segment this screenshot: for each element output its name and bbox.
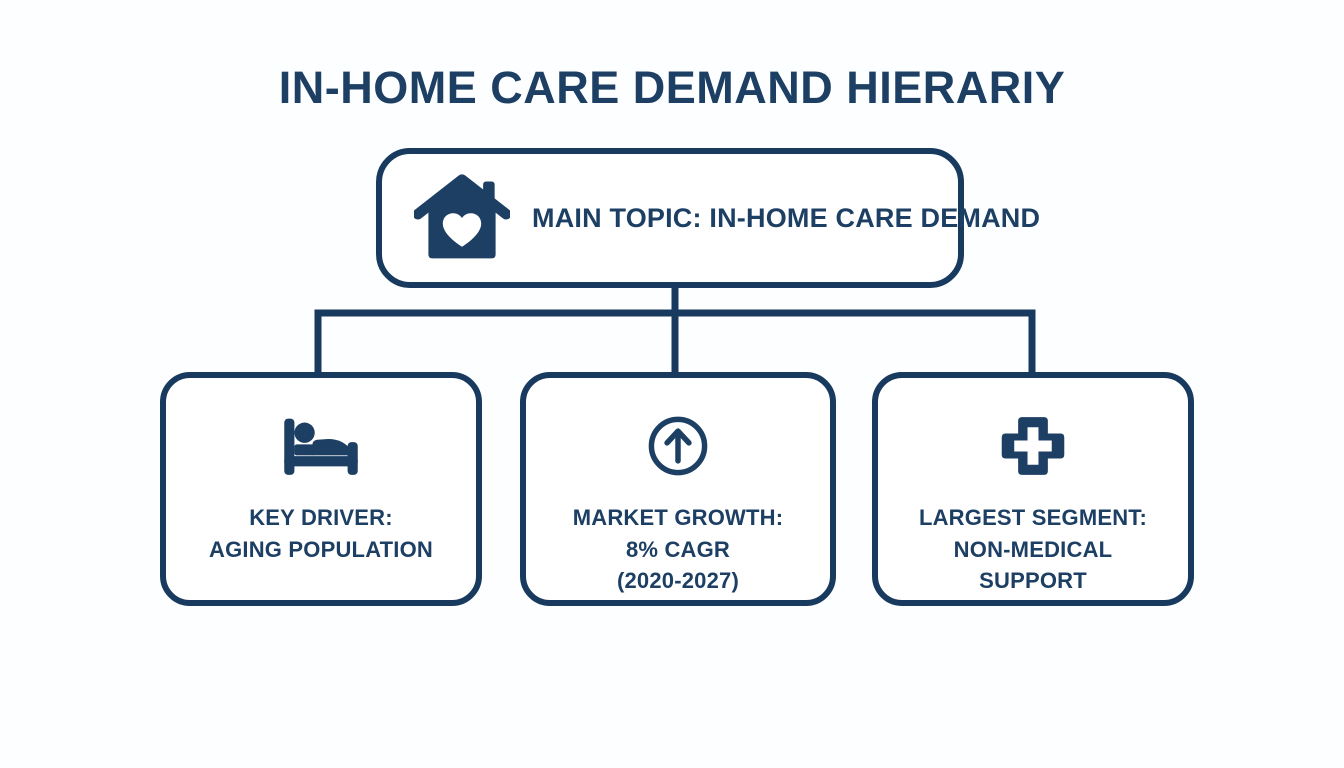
node-key-driver-label: KEY DRIVER: AGING POPULATION [209, 502, 433, 565]
node-main-topic-label: MAIN TOPIC: IN-HOME CARE DEMAND [532, 199, 1040, 237]
diagram-canvas: IN-HOME CARE DEMAND HIERARIY MAIN TOPIC: [0, 0, 1344, 768]
node-market-growth-label: MARKET GROWTH: 8% CAGR (2020-2027) [573, 502, 784, 597]
page-title: IN-HOME CARE DEMAND HIERARIY [0, 63, 1344, 113]
node-largest-segment-line-3: SUPPORT [919, 565, 1147, 597]
node-key-driver-line-1: KEY DRIVER: [209, 502, 433, 534]
node-key-driver[interactable]: KEY DRIVER: AGING POPULATION [160, 372, 482, 606]
node-market-growth-line-3: (2020-2027) [573, 565, 784, 597]
node-key-driver-line-2: AGING POPULATION [209, 534, 433, 566]
house-heart-icon [414, 170, 510, 266]
node-market-growth[interactable]: MARKET GROWTH: 8% CAGR (2020-2027) [520, 372, 836, 606]
node-largest-segment[interactable]: LARGEST SEGMENT: NON-MEDICAL SUPPORT [872, 372, 1194, 606]
node-largest-segment-label: LARGEST SEGMENT: NON-MEDICAL SUPPORT [919, 502, 1147, 597]
node-main-topic-line-2: IN-HOME CARE DEMAND [709, 203, 1040, 233]
node-market-growth-line-2: 8% CAGR [573, 534, 784, 566]
patient-in-bed-icon [278, 408, 364, 484]
node-largest-segment-line-1: LARGEST SEGMENT: [919, 502, 1147, 534]
node-market-growth-line-1: MARKET GROWTH: [573, 502, 784, 534]
node-main-topic-line-1: MAIN TOPIC: [532, 203, 702, 233]
node-main-topic[interactable]: MAIN TOPIC: IN-HOME CARE DEMAND [376, 148, 964, 288]
arrow-up-circle-icon [635, 408, 721, 484]
node-largest-segment-line-2: NON-MEDICAL [919, 534, 1147, 566]
medical-cross-icon [990, 408, 1076, 484]
